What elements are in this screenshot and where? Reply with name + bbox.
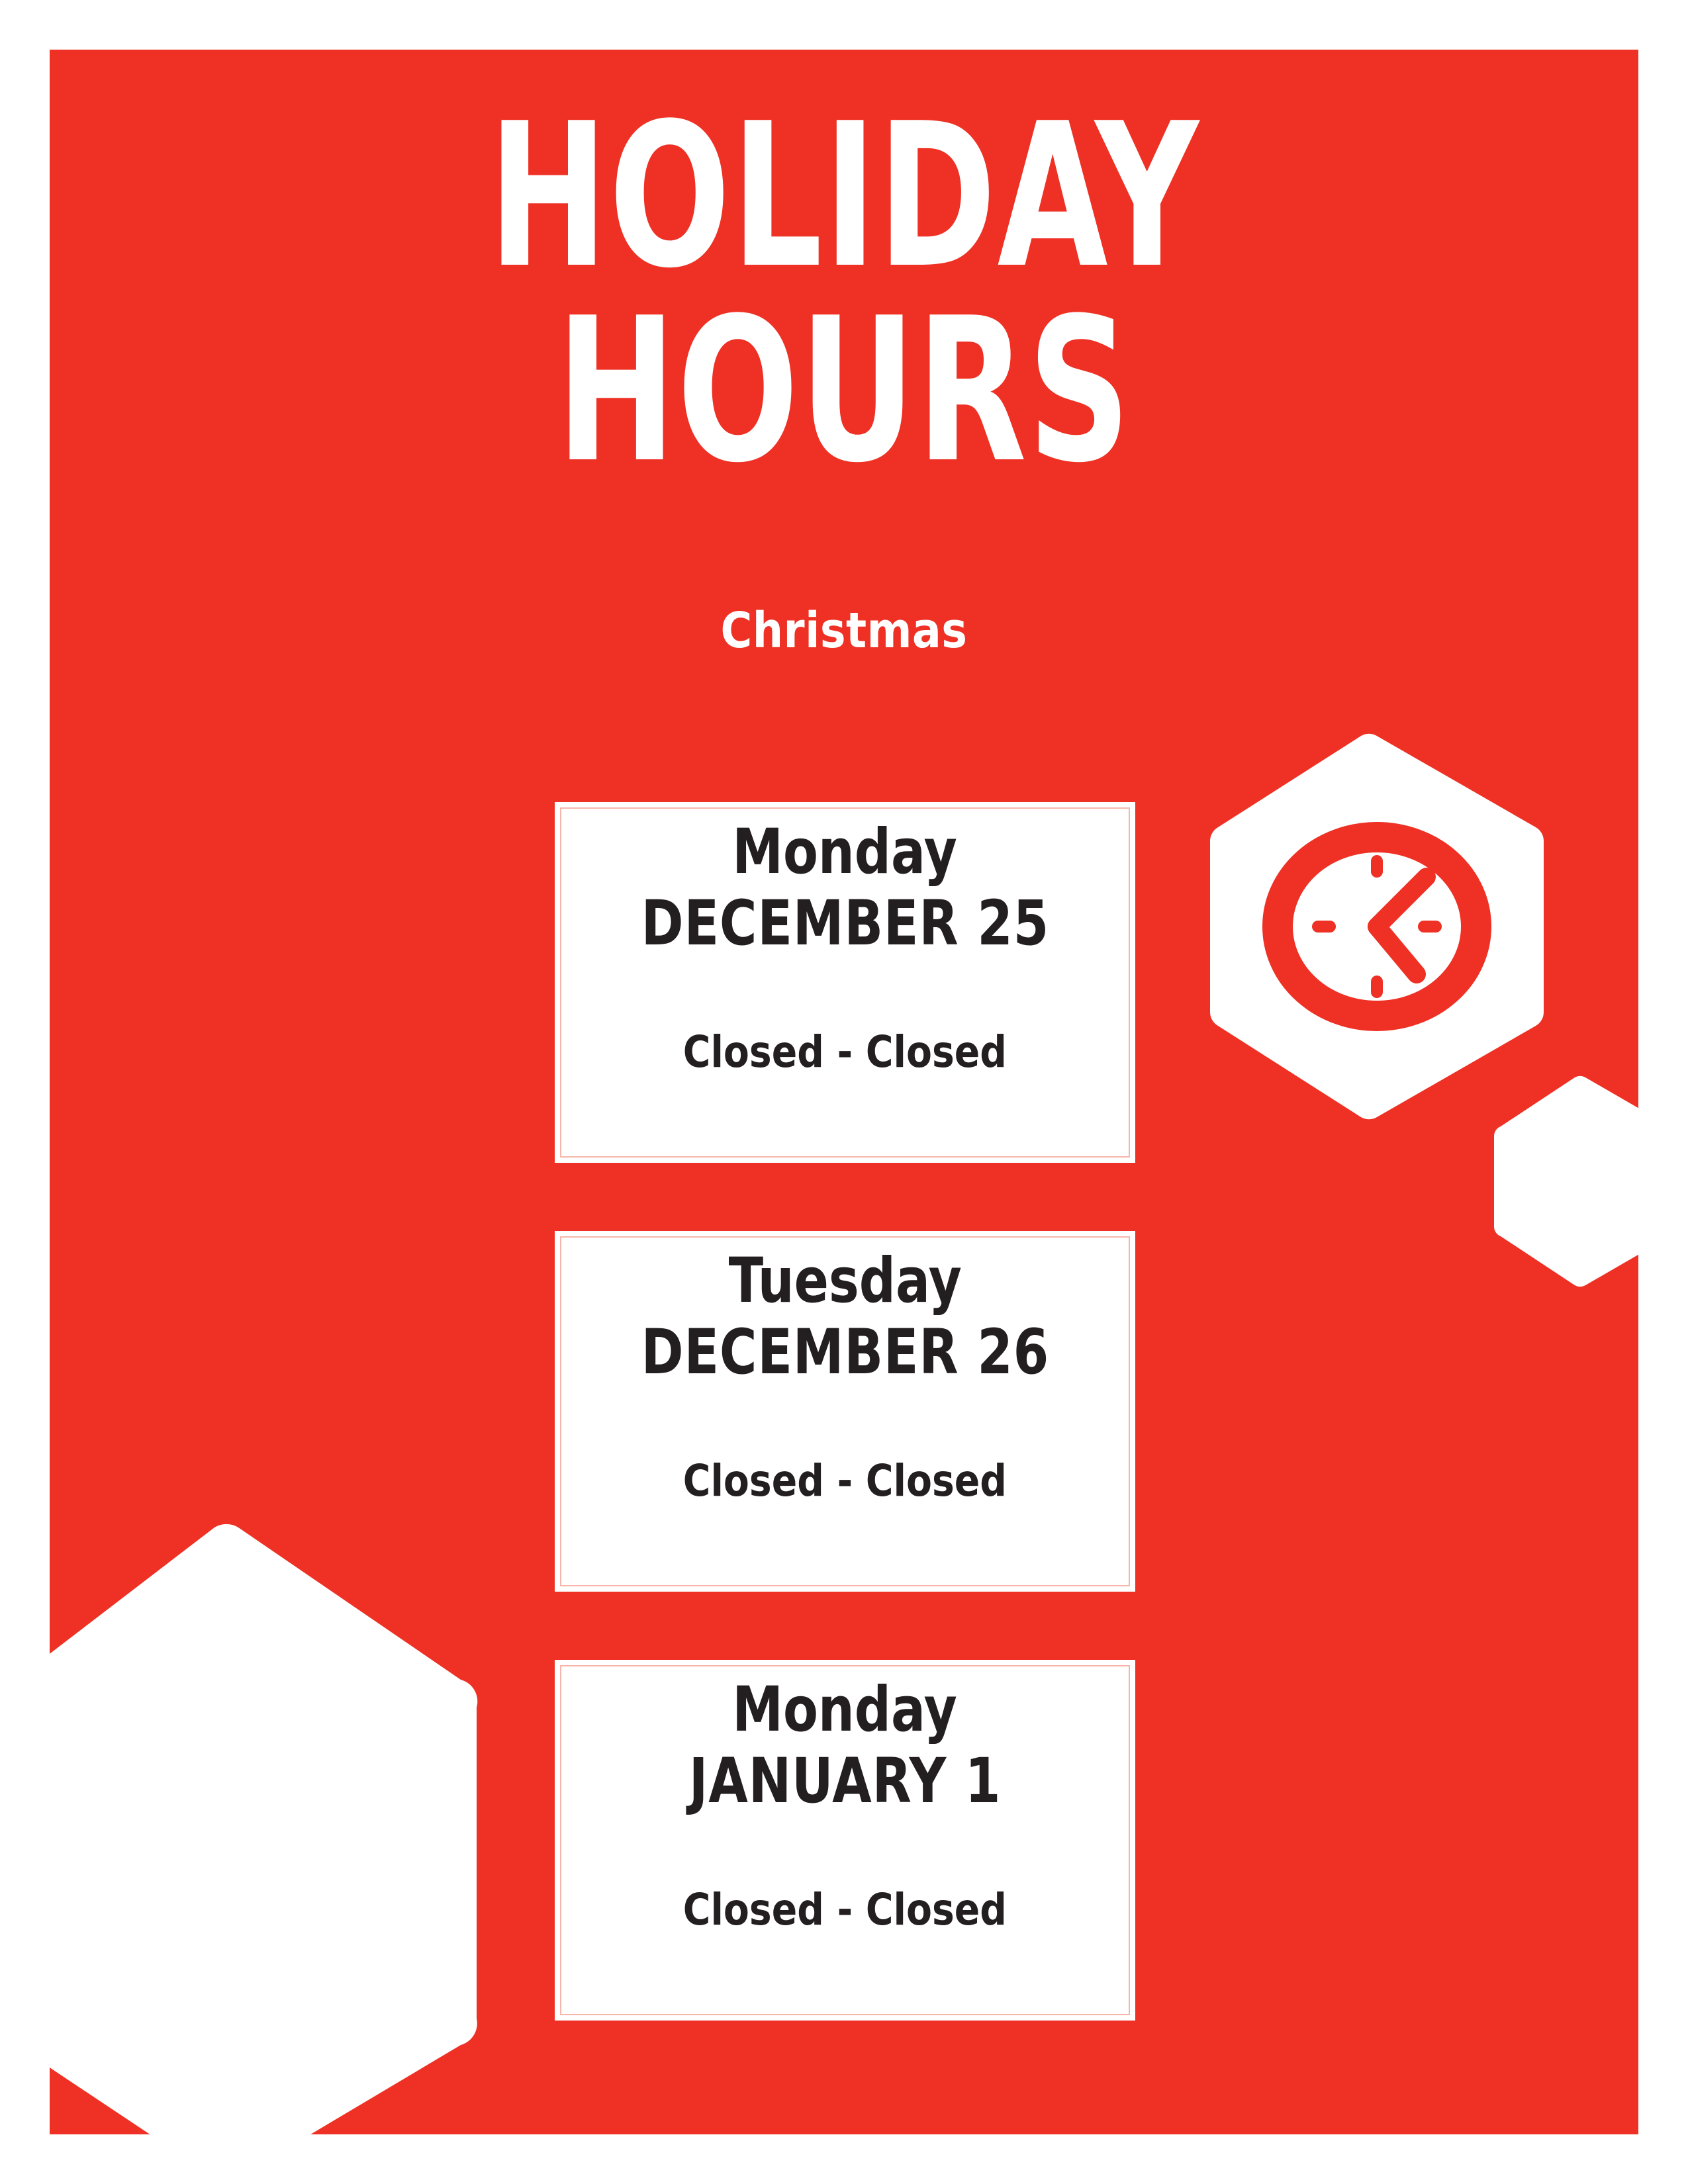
schedule-card: Monday DECEMBER 25 Closed - Closed (555, 802, 1135, 1163)
card-date: JANUARY 1 (689, 1749, 1002, 1815)
schedule-card: Monday JANUARY 1 Closed - Closed (555, 1660, 1135, 2021)
holiday-hours-poster: HOLIDAY HOURS Christmas Monday DECEMBER … (0, 0, 1688, 2184)
card-hours: Closed - Closed (683, 1886, 1007, 1934)
schedule-card-list: Monday DECEMBER 25 Closed - Closed Tuesd… (555, 802, 1135, 2089)
card-weekday: Monday (733, 1676, 958, 1744)
card-hours: Closed - Closed (683, 1028, 1007, 1077)
card-weekday: Monday (733, 818, 958, 886)
subtitle: Christmas (101, 602, 1587, 659)
card-hours: Closed - Closed (683, 1457, 1007, 1506)
schedule-card: Tuesday DECEMBER 26 Closed - Closed (555, 1231, 1135, 1592)
card-weekday: Tuesday (728, 1247, 961, 1315)
card-date: DECEMBER 26 (641, 1320, 1049, 1386)
card-date: DECEMBER 25 (641, 891, 1049, 957)
